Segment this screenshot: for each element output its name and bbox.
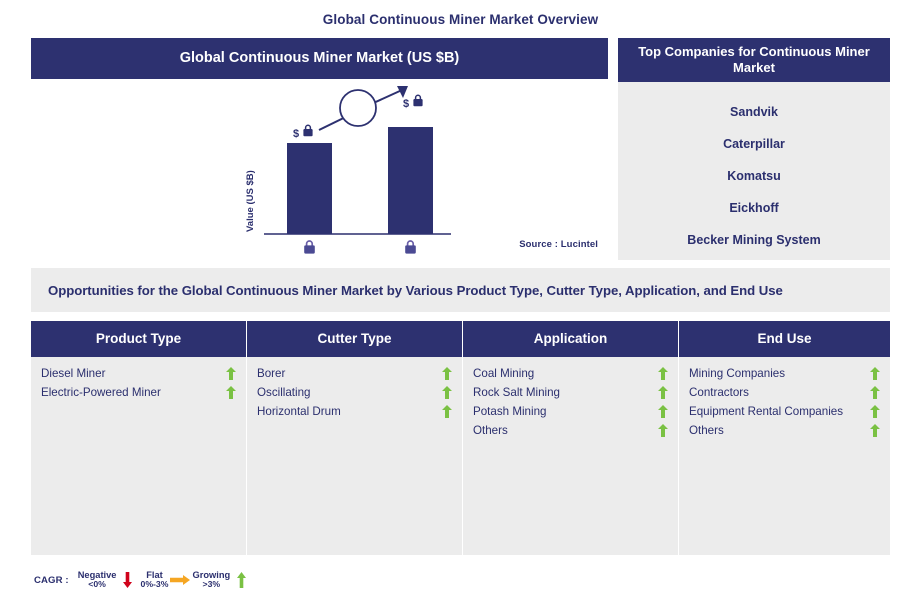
bar-series-1 [287,143,332,234]
item-label: Potash Mining [473,405,658,418]
legend-entry-negative: Negative <0% [78,570,139,590]
list-item[interactable]: Rock Salt Mining [473,383,668,402]
column-application: Application Coal Mining Rock Salt Mining… [463,321,678,555]
arrow-up-icon [658,386,668,399]
opportunities-banner: Opportunities for the Global Continuous … [31,268,890,312]
column-body-end-use: Mining Companies Contractors Equipment R… [679,357,890,555]
arrow-up-icon [442,405,452,418]
bar-1-value-label: $ [293,128,299,140]
arrow-up-icon [870,405,880,418]
item-label: Borer [257,367,442,380]
arrow-up-icon [226,386,236,399]
chart-plot-area: Value (US $B) $ $ [31,79,608,258]
list-item[interactable]: Borer [257,364,452,383]
market-chart-card: Global Continuous Miner Market (US $B) V… [31,38,608,258]
item-label: Coal Mining [473,367,658,380]
page-title: Global Continuous Miner Market Overview [0,12,921,27]
bar-chart-svg: Value (US $B) $ $ [31,79,608,258]
arrow-up-icon [658,424,668,437]
column-body-cutter-type: Borer Oscillating Horizontal Drum [247,357,462,555]
item-label: Others [689,424,870,437]
list-item[interactable]: Horizontal Drum [257,402,452,421]
item-label: Electric-Powered Miner [41,386,226,399]
x-tick-1-lock-icon [304,241,315,254]
arrow-up-icon [658,367,668,380]
column-end-use: End Use Mining Companies Contractors Equ… [679,321,890,555]
y-axis-label: Value (US $B) [245,170,256,232]
item-label: Others [473,424,658,437]
list-item: Komatsu [618,160,890,192]
legend-entry-flat-text: Flat 0%-3% [140,570,168,590]
arrow-up-icon [442,386,452,399]
list-item[interactable]: Equipment Rental Companies [689,402,880,421]
item-label: Contractors [689,386,870,399]
list-item[interactable]: Potash Mining [473,402,668,421]
arrow-up-icon [230,572,252,588]
legend-entry-negative-range: <0% [78,580,117,590]
legend-entry-growing: Growing >3% [193,570,253,590]
arrow-up-icon [870,424,880,437]
arrow-up-icon [870,367,880,380]
infographic-root: Global Continuous Miner Market Overview … [0,0,921,600]
legend-entry-growing-text: Growing >3% [193,570,231,590]
cagr-legend-title: CAGR : [34,575,69,586]
bar-1-value-lock-icon [303,125,312,136]
legend-entry-flat: Flat 0%-3% [140,570,190,590]
list-item[interactable]: Coal Mining [473,364,668,383]
column-header-end-use: End Use [679,321,890,357]
arrow-right-icon [169,575,191,585]
column-cutter-type: Cutter Type Borer Oscillating Horizontal… [247,321,462,555]
column-header-product-type: Product Type [31,321,246,357]
column-header-cutter-type: Cutter Type [247,321,462,357]
arrow-up-icon [226,367,236,380]
list-item: Sandvik [618,96,890,128]
list-item[interactable]: Others [473,421,668,440]
item-label: Mining Companies [689,367,870,380]
arrow-up-icon [870,386,880,399]
chart-source-note: Source : Lucintel [519,239,598,250]
opportunity-columns: Product Type Diesel Miner Electric-Power… [31,321,890,555]
arrow-down-icon [116,572,138,588]
item-label: Diesel Miner [41,367,226,380]
list-item: Eickhoff [618,192,890,224]
column-header-application: Application [463,321,678,357]
bar-2-value-label: $ [403,98,409,110]
top-companies-list: Sandvik Caterpillar Komatsu Eickhoff Bec… [618,82,890,260]
chart-card-header: Global Continuous Miner Market (US $B) [31,38,608,79]
list-item[interactable]: Electric-Powered Miner [41,383,236,402]
top-companies-card: Top Companies for Continuous Miner Marke… [618,38,890,260]
item-label: Oscillating [257,386,442,399]
list-item[interactable]: Mining Companies [689,364,880,383]
x-tick-2-lock-icon [405,241,416,254]
legend-entry-flat-range: 0%-3% [140,580,168,590]
list-item: Caterpillar [618,128,890,160]
growth-circle-marker [340,90,376,126]
column-product-type: Product Type Diesel Miner Electric-Power… [31,321,246,555]
cagr-legend: CAGR : Negative <0% Flat 0%-3% Growing >… [34,565,254,595]
column-body-product-type: Diesel Miner Electric-Powered Miner [31,357,246,555]
opportunities-banner-text: Opportunities for the Global Continuous … [48,283,783,298]
bar-series-2 [388,127,433,234]
legend-entry-growing-range: >3% [193,580,231,590]
list-item: Becker Mining System [618,224,890,256]
column-body-application: Coal Mining Rock Salt Mining Potash Mini… [463,357,678,555]
list-item[interactable]: Oscillating [257,383,452,402]
item-label: Horizontal Drum [257,405,442,418]
legend-entry-negative-text: Negative <0% [78,570,117,590]
item-label: Equipment Rental Companies [689,405,870,418]
arrow-up-icon [658,405,668,418]
list-item[interactable]: Others [689,421,880,440]
list-item[interactable]: Diesel Miner [41,364,236,383]
item-label: Rock Salt Mining [473,386,658,399]
bar-2-value-lock-icon [413,95,422,106]
top-companies-header: Top Companies for Continuous Miner Marke… [618,38,890,82]
arrow-up-icon [442,367,452,380]
list-item[interactable]: Contractors [689,383,880,402]
